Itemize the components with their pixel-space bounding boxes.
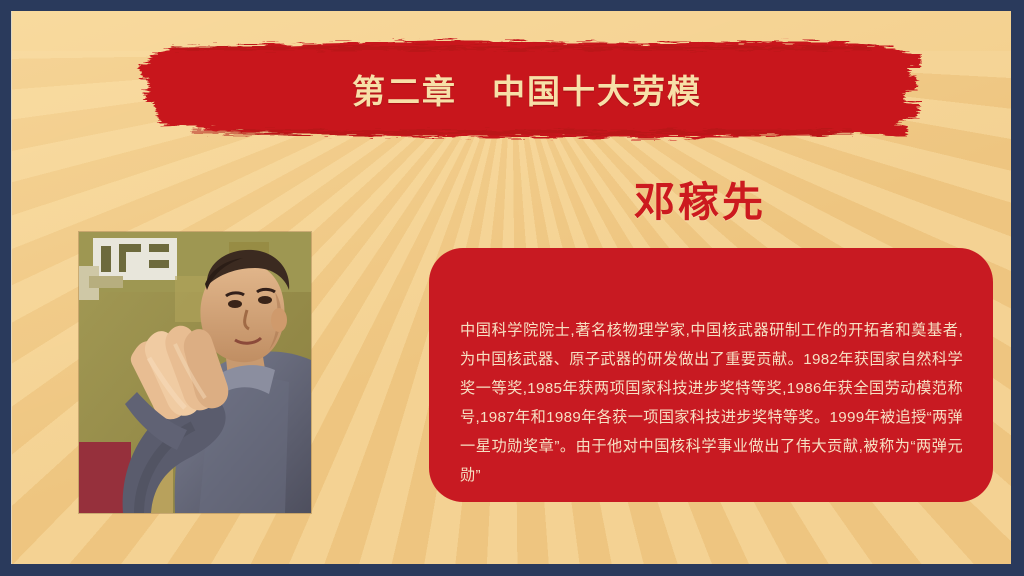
person-name-heading: 邓稼先 <box>442 168 958 228</box>
description-panel: 中国科学院院士,著名核物理学家,中国核武器研制工作的开拓者和奠基者,为中国核武器… <box>429 248 993 502</box>
portrait-image <box>79 232 311 513</box>
slide-outer-frame: 第二章 中国十大劳模 邓稼先 <box>0 0 1024 576</box>
chapter-title: 第二章 中国十大劳模 <box>132 34 922 144</box>
slide-canvas: 第二章 中国十大劳模 邓稼先 <box>11 11 1011 564</box>
portrait-illustration <box>79 232 311 513</box>
biography-text: 中国科学院院士,著名核物理学家,中国核武器研制工作的开拓者和奠基者,为中国核武器… <box>460 316 963 490</box>
title-banner: 第二章 中国十大劳模 <box>132 34 922 144</box>
